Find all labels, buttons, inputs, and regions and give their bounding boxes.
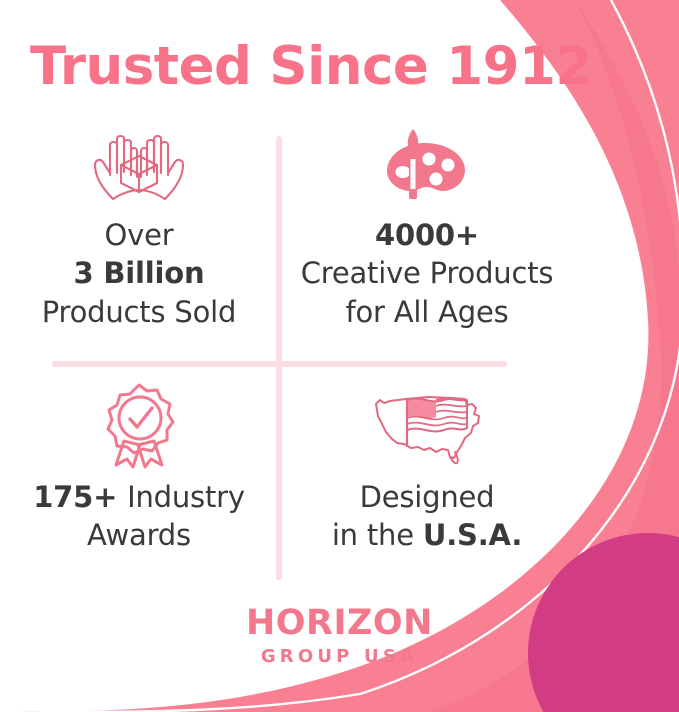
line-1-bold: 4000+ xyxy=(375,218,479,252)
palette-thumb-hole xyxy=(396,166,411,178)
infographic-canvas: Trusted Since 1912 xyxy=(0,0,679,712)
feature-text-industry-awards: 175+ Industry Awards xyxy=(33,478,245,555)
logo-primary-text: HORIZON xyxy=(246,606,433,641)
line-1: 175+ Industry xyxy=(33,478,245,516)
usa-map-flag-icon xyxy=(366,388,488,464)
award-ribbon-check-icon xyxy=(100,388,178,464)
feature-text-creative-products: 4000+ Creative Products for All Ages xyxy=(301,216,554,331)
feature-designed-in-usa: Designed in the U.S.A. xyxy=(282,388,572,555)
line-2-plain: in the xyxy=(332,518,423,552)
page-title: Trusted Since 1912 xyxy=(30,36,592,97)
palette-well-3 xyxy=(430,173,443,186)
line-2: Awards xyxy=(33,516,245,554)
hands-holding-box-icon xyxy=(87,128,191,204)
line-3: Products Sold xyxy=(42,293,236,331)
line-1: 4000+ xyxy=(301,216,554,254)
line-2-bold: 3 Billion xyxy=(74,256,205,290)
brush-handle-gap xyxy=(411,159,416,189)
line-1-bold: 175+ xyxy=(33,480,127,514)
paint-palette-brush-icon xyxy=(381,128,473,204)
flag-stripe-2 xyxy=(436,405,467,407)
flag-stripe-4 xyxy=(407,417,467,420)
brush-tip xyxy=(408,129,419,146)
rosette-inner-circle xyxy=(119,397,161,439)
feature-text-designed-in-usa: Designed in the U.S.A. xyxy=(332,478,522,555)
line-1-rest: Industry xyxy=(127,480,245,514)
feature-industry-awards: 175+ Industry Awards xyxy=(0,388,278,555)
line-1: Designed xyxy=(332,478,522,516)
line-2: 3 Billion xyxy=(42,254,236,292)
flag-stripe-3 xyxy=(436,411,467,413)
palette-well-2 xyxy=(442,159,455,172)
feature-creative-products: 4000+ Creative Products for All Ages xyxy=(282,128,572,331)
feature-products-sold: Over 3 Billion Products Sold xyxy=(0,128,278,331)
brand-logo: HORIZON GROUP USA xyxy=(0,606,679,666)
line-3: for All Ages xyxy=(301,293,554,331)
logo-secondary-text: GROUP USA xyxy=(261,648,418,666)
line-1: Over xyxy=(42,216,236,254)
palette-well-1 xyxy=(423,153,436,166)
check-icon xyxy=(130,408,152,427)
line-2-bold: U.S.A. xyxy=(423,518,522,552)
feature-text-products-sold: Over 3 Billion Products Sold xyxy=(42,216,236,331)
line-2: Creative Products xyxy=(301,254,554,292)
line-2: in the U.S.A. xyxy=(332,516,522,554)
flag-stripe-5 xyxy=(407,423,467,426)
